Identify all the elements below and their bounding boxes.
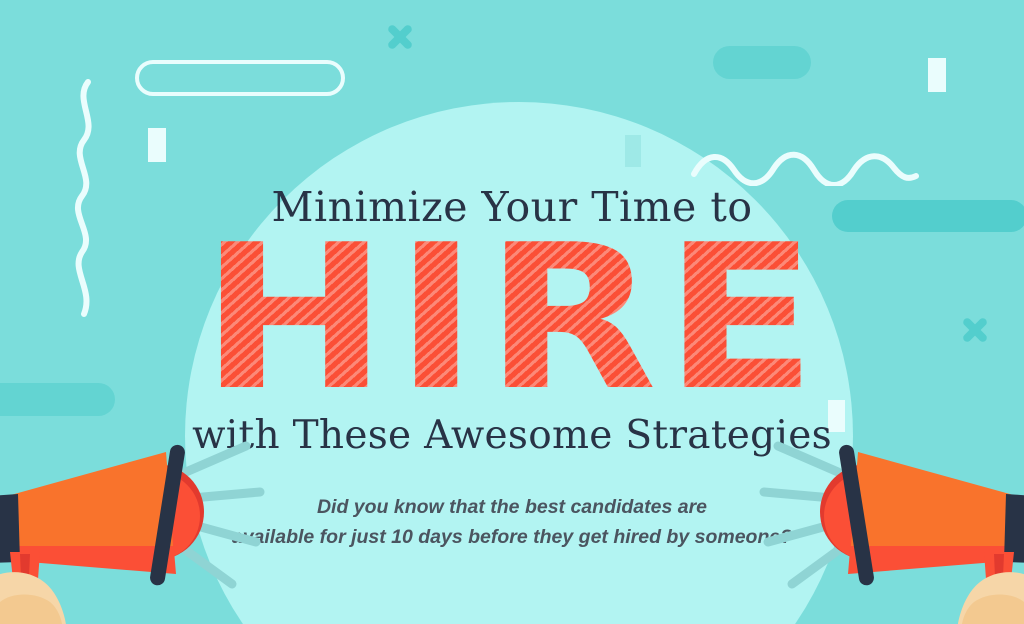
wavy-line-horizontal-icon — [690, 146, 920, 186]
megaphone-cone-right — [851, 452, 1024, 546]
megaphone-left-illustration — [0, 394, 270, 624]
wordmark-wrapper: HIRE — [0, 228, 1024, 410]
megaphone-cone-left — [0, 452, 173, 546]
pill-solid-top-shape — [713, 46, 811, 79]
hand-right — [958, 572, 1024, 624]
poster-canvas: Minimize Your Time to HIRE with These Aw… — [0, 0, 1024, 624]
x-cross-icon-top — [383, 20, 417, 54]
sparkle-diamond-icon-2 — [625, 135, 641, 167]
megaphone-right-illustration — [754, 394, 1024, 624]
pill-outline-shape — [135, 60, 345, 96]
sparkle-diamond-icon-1 — [148, 128, 166, 162]
wordmark-hire: HIRE — [0, 228, 1024, 410]
hand-left — [0, 572, 66, 624]
sparkle-diamond-icon-3 — [928, 58, 946, 92]
